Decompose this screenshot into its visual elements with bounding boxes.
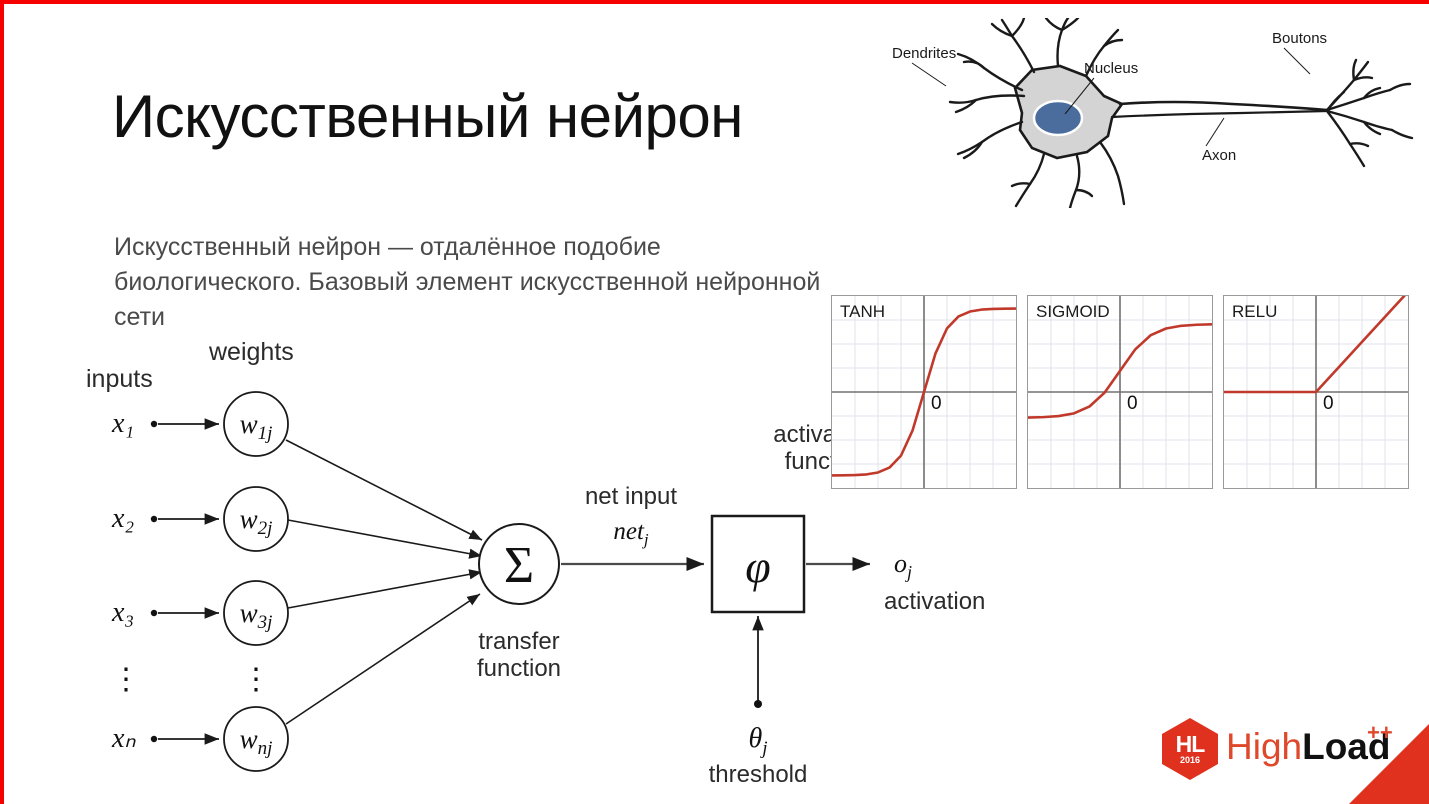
transfer-label-line2: function: [477, 655, 561, 682]
net-input-label: net input: [585, 483, 677, 510]
chart-zero-label-sigmoid: 0: [1127, 393, 1138, 415]
connection-n: [286, 594, 480, 724]
input-dot-1: [151, 421, 157, 427]
chart-relu-svg: [1224, 296, 1408, 488]
output-symbol: oj: [894, 549, 912, 582]
logo-word-high: High: [1226, 726, 1302, 767]
input-dot-n: [151, 736, 157, 742]
chart-title-relu: RELU: [1232, 302, 1277, 322]
threshold-dot: [754, 700, 762, 708]
chart-panel-tanh: TANH 0: [831, 295, 1017, 489]
slide: Искусственный нейрон Искусственный нейро…: [0, 0, 1429, 804]
nucleus-label: Nucleus: [1084, 60, 1138, 77]
chart-zero-label-relu: 0: [1323, 393, 1334, 415]
inputs-label: inputs: [86, 365, 153, 393]
chart-zero-label-tanh: 0: [931, 393, 942, 415]
sigma-symbol: Σ: [504, 537, 534, 594]
nucleus-shape: [1034, 101, 1082, 135]
chart-tanh-svg: [832, 296, 1016, 488]
body-paragraph: Искусственный нейрон — отдалённое подоби…: [114, 230, 854, 335]
axon-leader: [1206, 118, 1224, 146]
biological-neuron-image: Dendrites Nucleus Axon Boutons: [872, 18, 1427, 208]
transfer-label-line1: transfer: [478, 628, 559, 655]
boutons-leader: [1284, 48, 1310, 74]
chart-panel-relu: RELU 0: [1223, 295, 1409, 489]
weights-label: weights: [208, 338, 294, 366]
axon-label: Axon: [1202, 147, 1236, 164]
page-title: Искусственный нейрон: [112, 82, 743, 151]
weights-ellipsis: ⋮: [241, 663, 271, 696]
input-label-2: x₂: [111, 503, 134, 534]
threshold-label: threshold: [709, 761, 808, 788]
threshold-symbol: θj: [748, 723, 767, 759]
input-dot-2: [151, 516, 157, 522]
logo-badge-text: HL 2016: [1162, 718, 1218, 780]
chart-title-tanh: TANH: [840, 302, 885, 322]
input-dot-3: [151, 610, 157, 616]
input-row-3: x₃ w3j: [111, 581, 288, 645]
input-row-1: x₁ w1j: [111, 392, 288, 456]
connection-3: [288, 572, 482, 608]
axon-line: [1120, 102, 1327, 110]
input-label-3: x₃: [111, 597, 134, 628]
input-label-1: x₁: [111, 408, 134, 439]
chart-sigmoid-svg: [1028, 296, 1212, 488]
net-input-symbol: netj: [613, 518, 649, 549]
dendrites-leader: [912, 63, 946, 86]
boutons-label: Boutons: [1272, 30, 1327, 47]
activation-charts: TANH 0 SIGMOID 0 RELU 0: [831, 295, 1409, 490]
chart-panel-sigmoid: SIGMOID 0: [1027, 295, 1213, 489]
input-row-2: x₂ w2j: [111, 487, 288, 551]
logo-badge-hl: HL: [1176, 733, 1205, 755]
biological-neuron-svg: Dendrites Nucleus Axon Boutons: [872, 18, 1427, 208]
corner-triangle-decoration: [1314, 724, 1429, 804]
input-label-n: xₙ: [111, 723, 136, 754]
chart-title-sigmoid: SIGMOID: [1036, 302, 1110, 322]
dendrites-label: Dendrites: [892, 45, 956, 62]
output-label: activation: [884, 588, 985, 615]
input-row-n: xₙ wnj: [111, 707, 288, 771]
phi-symbol: φ: [745, 541, 770, 592]
inputs-ellipsis: ⋮: [111, 663, 141, 696]
logo-badge-year: 2016: [1180, 755, 1200, 766]
